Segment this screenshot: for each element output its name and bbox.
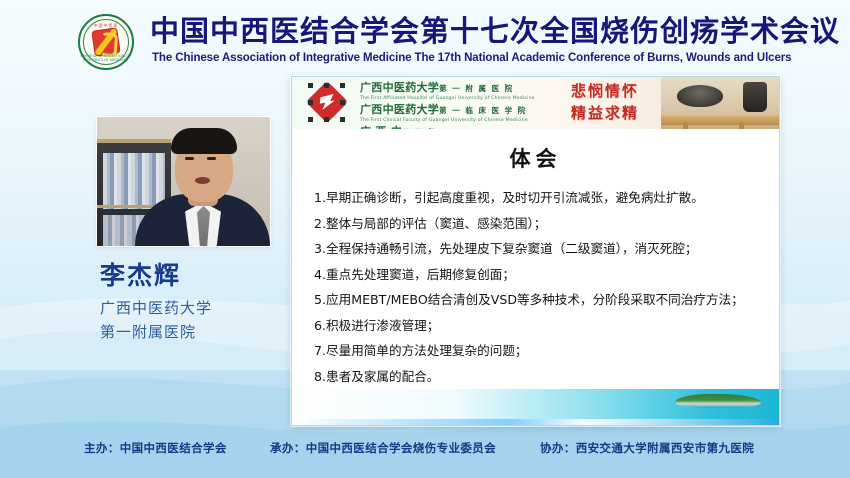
calligraphy-line-2: 精益求精 [550,102,660,124]
selection-handle[interactable] [340,117,345,122]
speaker-affiliation-line2: 第一附属医院 [100,320,310,344]
herbal-mortar-photo [661,77,779,129]
table-leg [739,122,744,129]
slide-list-item: 8.患者及家属的配合。 [314,364,766,390]
speaker-eye-right [207,157,216,160]
selection-handle[interactable] [308,117,313,122]
slide-bullet-list: 1.早期正确诊断，引起高度重视，及时切开引流减张，避免病灶扩散。 2.整体与局部… [314,185,766,389]
selection-handle[interactable] [340,83,345,88]
speaker-affiliation: 广西中医药大学 第一附属医院 [100,296,310,344]
slide-list-item: 5.应用MEBT/MEBO结合清创及VSD等多种技术，分阶段采取不同治疗方法； [314,287,766,313]
sponsor-footer: 主办：中国中西医结合学会 承办：中国中西医结合学会烧伤专业委员会 协办：西安交通… [0,440,850,462]
hospital-name-cn-sub: 医 医 院 [402,128,437,129]
slide-list-item: 7.尽量用简单的方法处理复杂的问题； [314,338,766,364]
hospital-name-cn-sub: 第 一 附 属 医 院 [439,84,514,93]
slide-title: 体会 [292,143,779,173]
wooden-table-shape [661,116,779,125]
slide-list-item: 1.早期正确诊断，引起高度重视，及时切开引流减张，避免病灶扩散。 [314,185,766,211]
conference-stream-screen: 中国中西医 CHINESE ASSOCIATION OF INTEGRATIVE… [0,0,850,478]
conference-title-chinese: 中国中西医结合学会第十七次全国烧伤创疡学术会议 [150,14,790,48]
calligraphy-line-1: 悲悯情怀 [550,80,660,102]
selection-handle[interactable] [308,83,313,88]
hospital-name-cn: 广 西 中 [360,125,402,129]
speaker-name: 李杰辉 [100,256,290,292]
slide-footer-band [292,389,779,425]
footer-band-shine [292,419,779,425]
conference-title-english: The Chinese Association of Integrative M… [152,52,812,64]
hospital-name-row: 广 西 中医 医 院 Guangxi Hospital Of Tradition… [360,125,525,129]
hospital-name-block: 广西中医药大学第 一 附 属 医 院 The First Affiliated … [360,81,525,129]
selection-handle[interactable] [308,100,313,105]
emblem-bottom-text: CHINESE ASSOCIATION OF INTEGRATIVE MEDIC… [80,54,132,62]
selection-handle[interactable] [324,117,329,122]
table-leg [683,122,688,129]
slide-list-item: 2.整体与局部的评估（窦道、感染范围）； [314,211,766,237]
selection-handle[interactable] [340,100,345,105]
speaker-hair [171,128,237,154]
hospital-name-row: 广西中医药大学第 一 附 属 医 院 The First Affiliated … [360,81,525,102]
slide-list-item: 4.重点先处理窦道，后期修复创面； [314,262,766,288]
speaker-mouth [195,177,210,184]
footer-organizer: 主办：中国中西医结合学会 [84,440,227,456]
footer-co-organizer: 协办：西安交通大学附属西安市第九医院 [540,440,754,456]
selection-handle[interactable] [324,83,329,88]
speaker-affiliation-line1: 广西中医药大学 [100,296,310,320]
hospital-name-cn: 广西中医药大学 [360,103,439,116]
hospital-name-cn-sub: 第 一 临 床 医 学 院 [439,106,527,115]
emblem-core-mark [91,27,120,56]
hospital-name-en: The First Clinical Faculty of Guangxi Un… [360,117,525,124]
slide-list-item: 6.积极进行渗液管理； [314,313,766,339]
herb-jar-shape [743,82,767,112]
slide-list-item: 3.全程保持通畅引流，先处理皮下复杂窦道（二级窦道），消灭死腔； [314,236,766,262]
speaker-video-feed[interactable] [97,117,270,246]
slide-hospital-banner: 广西中医药大学第 一 附 属 医 院 The First Affiliated … [292,77,779,129]
speaker-eye-left [185,157,194,160]
presentation-slide[interactable]: 广西中医药大学第 一 附 属 医 院 The First Affiliated … [291,76,780,426]
banner-calligraphy: 悲悯情怀 精益求精 [550,80,660,126]
association-emblem-icon: 中国中西医 CHINESE ASSOCIATION OF INTEGRATIVE… [78,14,134,70]
hospital-name-row: 广西中医药大学第 一 临 床 医 学 院 The First Clinical … [360,103,525,124]
island-seascape-image [675,394,761,408]
hospital-name-cn: 广西中医药大学 [360,81,439,94]
footer-undertaker: 承办：中国中西医结合学会烧伤专业委员会 [270,440,496,456]
mortar-bowl-shape [677,85,723,107]
conference-header: 中国中西医 CHINESE ASSOCIATION OF INTEGRATIVE… [0,0,850,76]
speaker-figure [135,138,270,246]
hospital-name-en: The First Affiliated Hospital of Guangxi… [360,95,525,102]
